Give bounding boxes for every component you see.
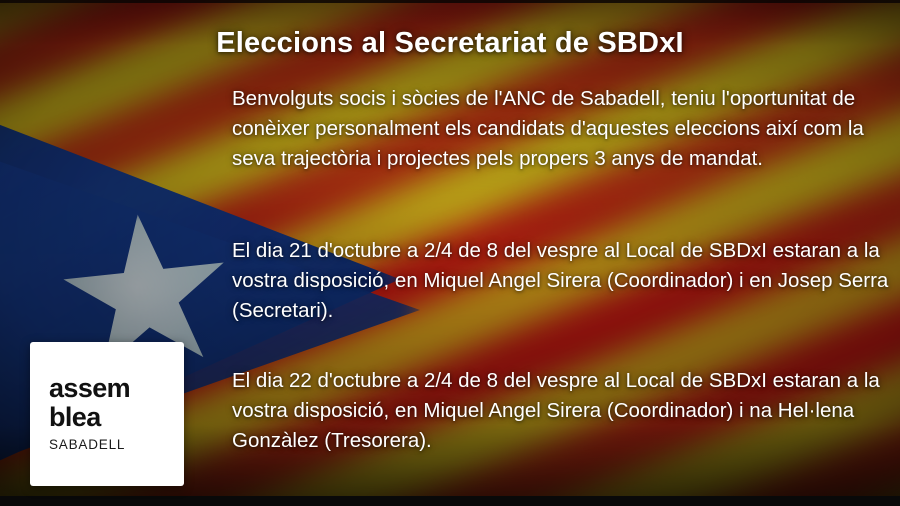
poster-canvas: Eleccions al Secretariat de SBDxI Benvol… xyxy=(0,0,900,506)
logo-text-group: assem blea SABADELL xyxy=(49,374,130,452)
poster-content: Eleccions al Secretariat de SBDxI Benvol… xyxy=(0,0,900,506)
paragraph-session-21-october: El dia 21 d'octubre a 2/4 de 8 del vespr… xyxy=(232,236,892,326)
logo-subtitle: SABADELL xyxy=(49,437,130,452)
paragraph-session-22-october: El dia 22 d'octubre a 2/4 de 8 del vespr… xyxy=(232,366,892,456)
assemblea-sabadell-logo: assem blea SABADELL xyxy=(30,342,184,486)
logo-line-one: assem xyxy=(49,374,130,403)
logo-line-two: blea xyxy=(49,403,130,432)
paragraph-intro: Benvolguts socis i sòcies de l'ANC de Sa… xyxy=(232,84,892,174)
poster-title: Eleccions al Secretariat de SBDxI xyxy=(0,27,900,60)
